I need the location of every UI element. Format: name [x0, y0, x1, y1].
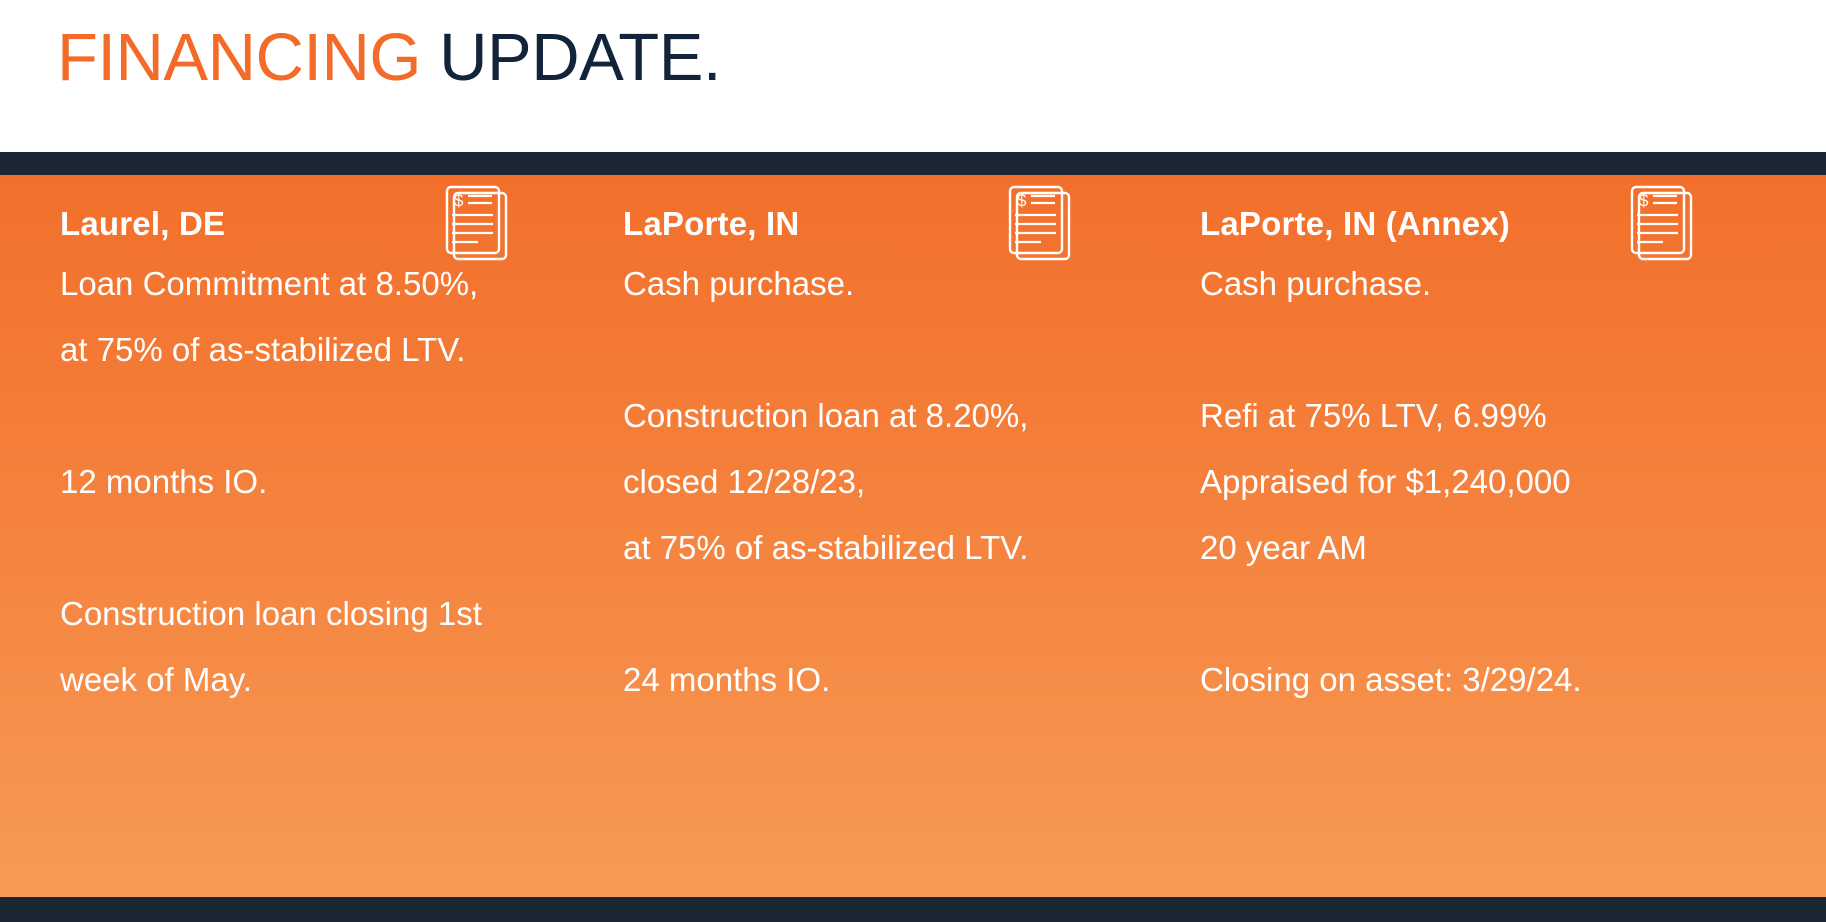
- body-line-spacer: [623, 581, 1143, 647]
- columns-container: Laurel, DE $ Loan Commitm: [0, 175, 1826, 897]
- page-title-rest: UPDATE.: [421, 20, 721, 95]
- body-line: at 75% of as-stabilized LTV.: [60, 317, 580, 383]
- svg-text:$: $: [454, 191, 464, 210]
- property-column-laurel-de: Laurel, DE $ Loan Commitm: [60, 175, 580, 897]
- column-heading: LaPorte, IN: [623, 205, 799, 243]
- body-line: 20 year AM: [1200, 515, 1760, 581]
- page-title: FINANCING UPDATE.: [57, 16, 721, 100]
- column-heading: LaPorte, IN (Annex): [1200, 205, 1510, 243]
- body-line-spacer: [1200, 317, 1760, 383]
- body-line: closed 12/28/23,: [623, 449, 1143, 515]
- column-heading: Laurel, DE: [60, 205, 225, 243]
- body-line: Closing on asset: 3/29/24.: [1200, 647, 1760, 713]
- bottom-divider-bar: [0, 897, 1826, 922]
- body-line: Refi at 75% LTV, 6.99%: [1200, 383, 1760, 449]
- column-body: Cash purchase. Refi at 75% LTV, 6.99% Ap…: [1200, 251, 1760, 713]
- column-body: Loan Commitment at 8.50%, at 75% of as-s…: [60, 251, 580, 713]
- svg-text:$: $: [1639, 191, 1649, 210]
- body-line-spacer: [1200, 581, 1760, 647]
- body-line: Appraised for $1,240,000: [1200, 449, 1760, 515]
- body-line: Construction loan closing 1st: [60, 581, 580, 647]
- page-title-accent: FINANCING: [57, 20, 421, 95]
- property-column-laporte-in-annex: LaPorte, IN (Annex) $ Cas: [1200, 175, 1760, 897]
- body-line-spacer: [623, 317, 1143, 383]
- body-line: Cash purchase.: [623, 251, 1143, 317]
- body-line: 24 months IO.: [623, 647, 1143, 713]
- body-line: 12 months IO.: [60, 449, 580, 515]
- body-line: Loan Commitment at 8.50%,: [60, 251, 580, 317]
- financing-update-slide: FINANCING UPDATE. Laurel, DE $: [0, 0, 1826, 922]
- body-line: week of May.: [60, 647, 580, 713]
- svg-text:$: $: [1017, 191, 1027, 210]
- body-line: Cash purchase.: [1200, 251, 1760, 317]
- body-line-spacer: [60, 515, 580, 581]
- property-column-laporte-in: LaPorte, IN $ Cash purcha: [623, 175, 1143, 897]
- body-line-spacer: [60, 383, 580, 449]
- top-divider-bar: [0, 152, 1826, 175]
- body-line: at 75% of as-stabilized LTV.: [623, 515, 1143, 581]
- column-body: Cash purchase. Construction loan at 8.20…: [623, 251, 1143, 713]
- content-panel: Laurel, DE $ Loan Commitm: [0, 175, 1826, 897]
- slide-header: FINANCING UPDATE.: [0, 0, 1826, 152]
- body-line: Construction loan at 8.20%,: [623, 383, 1143, 449]
